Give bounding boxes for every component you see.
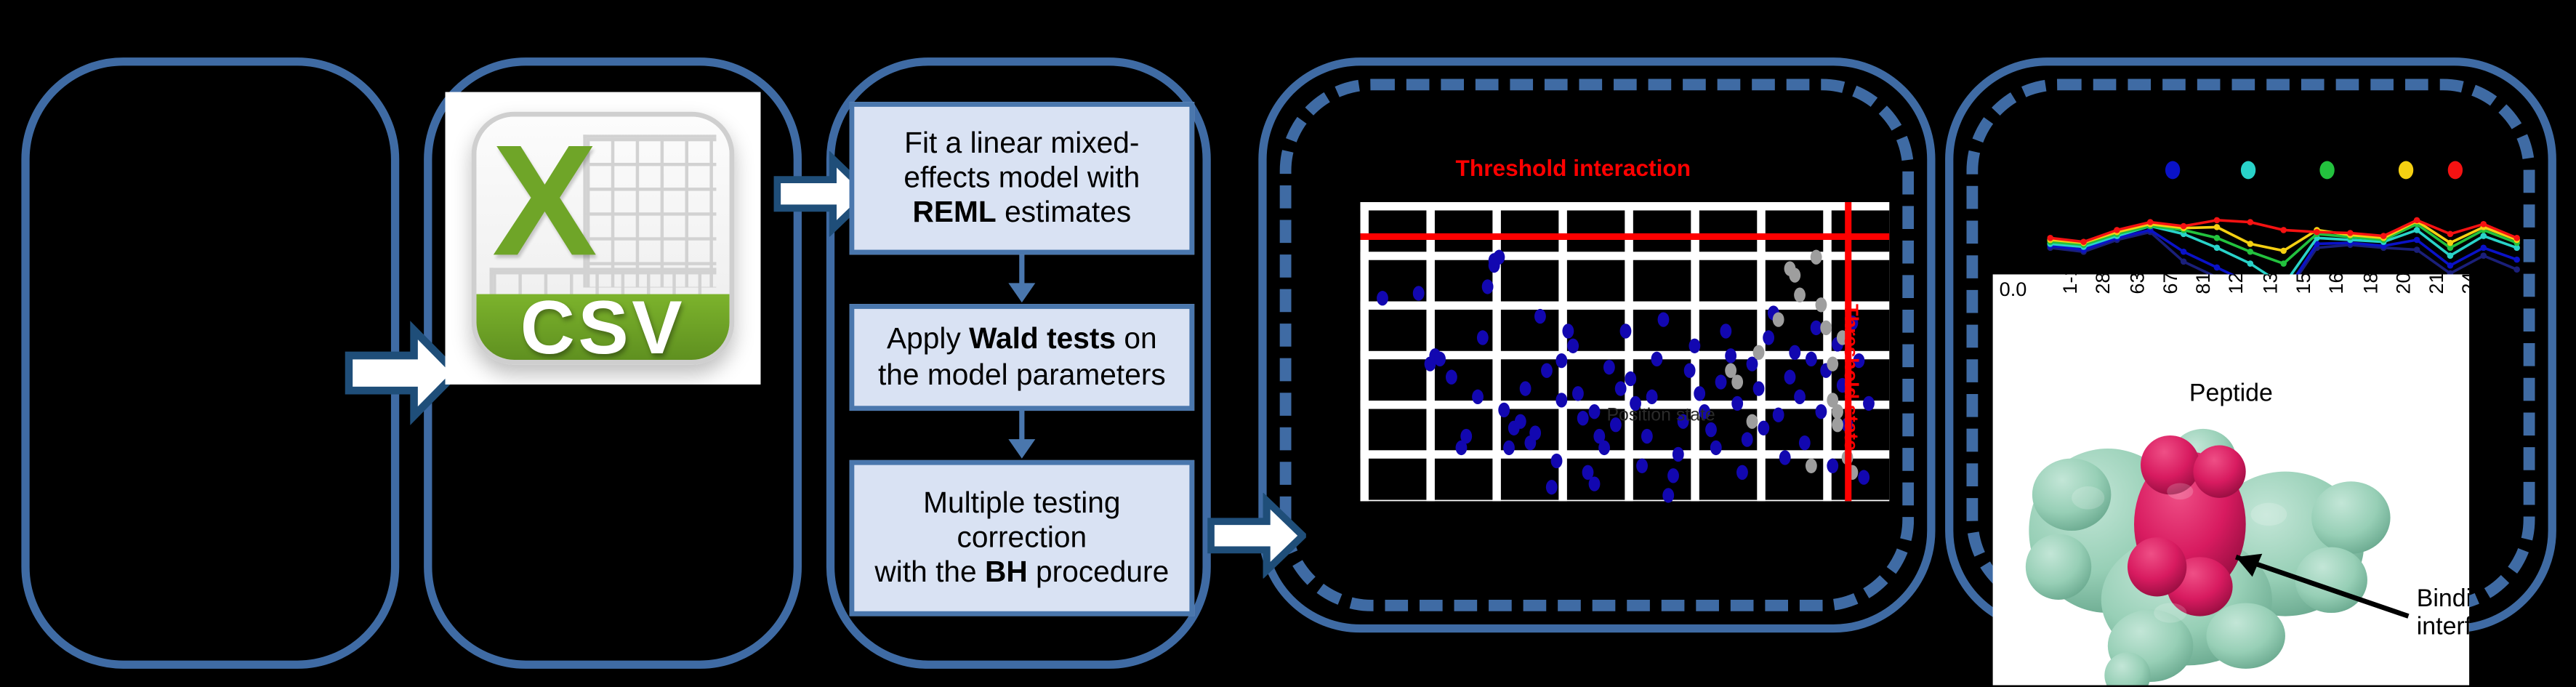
scatter-point [1752, 381, 1764, 395]
legend-dot-green [2319, 161, 2334, 180]
scatter-point [1620, 324, 1632, 339]
scatter-point [1683, 363, 1695, 377]
peptide-series-marker [2447, 262, 2454, 269]
legend-dot-red [2448, 161, 2463, 180]
scatter-point [1667, 467, 1679, 482]
threshold-interaction-line [1360, 233, 1889, 240]
peptide-series-marker [2047, 235, 2053, 241]
threshold-state-label: Threshold state [1840, 304, 1863, 451]
csv-format-label: CSV [520, 283, 685, 365]
proc-line: correction [874, 521, 1169, 555]
csv-badge: X CSV [472, 111, 733, 366]
peptide-series-marker [2147, 219, 2154, 225]
scatter-point [1720, 324, 1732, 339]
scatter-point [1588, 405, 1600, 419]
scatter-point [1482, 279, 1494, 294]
peptide-tick-label: 218-237 [2425, 274, 2448, 294]
peptide-tick-label: 184-199 [2359, 274, 2382, 294]
peptide-series-marker [2214, 217, 2221, 224]
scatter-point [1731, 375, 1742, 390]
peptide-series-marker [2513, 235, 2520, 241]
scatter-point [1646, 390, 1658, 404]
peptide-series-marker [2280, 227, 2287, 233]
peptide-series-marker [2181, 223, 2187, 230]
scatter-point [1811, 249, 1822, 264]
scatter-point [1821, 321, 1832, 336]
peptide-axis-label: Peptide [1993, 379, 2469, 407]
scatter-point [1577, 411, 1589, 425]
scatter-point [1472, 390, 1484, 404]
peptide-series-marker [2414, 217, 2420, 224]
fit-model-step-text: Fit a linear mixed- effects model with R… [903, 126, 1140, 230]
scatter-point [1811, 321, 1822, 336]
peptide-series-marker [2414, 246, 2420, 253]
proc-line: Apply Wald tests on [878, 323, 1166, 358]
scatter-point [1519, 381, 1531, 395]
peptide-tick-label: 241-257 [2458, 274, 2469, 294]
scatter-point [1604, 360, 1616, 374]
peptide-series-marker [2380, 233, 2387, 239]
scatter-point [1477, 330, 1489, 345]
peptide-series-marker [2247, 241, 2254, 247]
scatter-point [1710, 441, 1721, 455]
scatter-point [1826, 459, 1838, 473]
peptide-tick-label: 167-180 [2325, 274, 2348, 294]
peptide-series-marker [2247, 249, 2254, 255]
peptide-series-marker [2214, 235, 2221, 241]
scatter-point [1715, 375, 1727, 390]
scatter-point [1805, 459, 1816, 473]
scatter-point [1789, 268, 1800, 282]
scatter-point [1774, 408, 1785, 422]
peptide-series-marker [2480, 245, 2487, 252]
scatter-point [1551, 453, 1563, 467]
binding-interface-annotation: Binding interface [2417, 587, 2469, 642]
scatter-point [1572, 387, 1584, 401]
peptide-tick-label: 135-144 [2258, 274, 2282, 294]
scatter-point [1816, 297, 1827, 312]
scatter-point [1863, 396, 1875, 411]
pipeline-diagram: X CSV Fit a linear mixed- effects model … [0, 0, 2576, 687]
peptide-axis-ticks: 1-1528-4463-7367-7581-101122-129135-1441… [1993, 291, 2469, 383]
scatter-point [1445, 369, 1457, 384]
peptide-series-marker [2447, 240, 2454, 246]
peptide-series-marker [2280, 260, 2287, 267]
scatter-point [1657, 312, 1668, 326]
peptide-series-marker [2480, 221, 2487, 228]
peptide-series-marker [2347, 230, 2354, 236]
peptide-tick-label: 67-75 [2159, 274, 2182, 294]
scatter-point [1758, 419, 1769, 434]
scatter-point [1752, 345, 1764, 360]
peptide-series-marker [2080, 238, 2087, 245]
scatter-point [1662, 489, 1674, 503]
scatter-point [1377, 292, 1388, 306]
binding-label-line1: Binding [2417, 587, 2469, 614]
scatter-point [1816, 405, 1827, 419]
peptide-series-marker [2314, 229, 2320, 236]
protein-structure-image [2006, 416, 2417, 686]
proc-line: REML estimates [903, 196, 1140, 230]
peptide-series-marker [2480, 233, 2487, 239]
peptide-series-marker [2447, 252, 2454, 259]
peptide-tick-label: 158-166 [2292, 274, 2315, 294]
scatter-point [1567, 339, 1579, 353]
scatter-point [1742, 432, 1753, 446]
csv-file-icon: X CSV [446, 92, 761, 385]
peptide-tick-label: 122-129 [2225, 274, 2248, 294]
scatter-point [1556, 354, 1568, 369]
scatter-point [1736, 465, 1748, 479]
scatter-point [1625, 372, 1637, 387]
scatter-point [1540, 363, 1552, 377]
scatter-point [1598, 441, 1610, 455]
scatter-point [1503, 441, 1515, 455]
scatter-point [1805, 351, 1816, 366]
scatter-point [1795, 288, 1806, 302]
scatter-point [1498, 402, 1510, 417]
peptide-series-marker [2447, 231, 2454, 238]
peptide-tick-label: 63-73 [2125, 274, 2149, 294]
scatter-point [1789, 345, 1800, 360]
stage-input-panel [21, 57, 399, 669]
scatter-point [1588, 477, 1600, 491]
scatter-point [1514, 414, 1526, 428]
proc-line: the model parameters [878, 358, 1166, 393]
scatter-point [1562, 324, 1574, 339]
proc-line: Multiple testing [874, 486, 1169, 521]
scatter-point [1635, 459, 1647, 473]
peptide-tick-label: 28-44 [2092, 274, 2115, 294]
wald-tests-step-box: Apply Wald tests on the model parameters [850, 304, 1195, 411]
peptide-series-marker [2247, 260, 2254, 267]
threshold-scatter-figure: Threshold interaction Threshold state Po… [1314, 148, 1906, 526]
arrow-analysis-to-thresholds [1207, 493, 1306, 579]
peptide-series-marker [2513, 257, 2520, 263]
peptide-series-marker [2280, 248, 2287, 254]
peptide-series-marker [2181, 259, 2187, 265]
peptide-series-marker [2114, 227, 2120, 233]
scatter-plot-area: Threshold state Position state [1360, 202, 1889, 501]
wald-tests-step-text: Apply Wald tests on the model parameters [878, 323, 1166, 393]
multiple-testing-step-box: Multiple testing correction with the BH … [850, 460, 1195, 616]
scatter-point [1461, 429, 1473, 443]
peptide-series-marker [2247, 219, 2254, 225]
peptide-tick-label: 81-101 [2191, 274, 2215, 294]
proc-line: Fit a linear mixed- [903, 126, 1140, 161]
scatter-point [1795, 390, 1806, 404]
legend-dot-blue [2165, 161, 2180, 180]
scatter-point [1651, 351, 1663, 366]
peptide-series-marker [2480, 252, 2487, 259]
peptide-series-marker [2214, 224, 2221, 230]
results-white-card: 0.0 1-1528-4463-7367-7581-101122-129135-… [1993, 274, 2469, 685]
fit-model-step-box: Fit a linear mixed- effects model with R… [850, 102, 1195, 254]
csv-grid-upper [583, 135, 717, 287]
legend-dot-yellow [2399, 161, 2413, 180]
proc-line: effects model with [903, 161, 1140, 196]
scatter-point [1689, 339, 1700, 353]
connector-wald-to-bh [1005, 411, 1038, 460]
scatter-point [1435, 351, 1446, 366]
scatter-point [1694, 387, 1705, 401]
scatter-point [1726, 348, 1737, 363]
excel-x-glyph: X [492, 124, 597, 281]
scatter-point [1779, 450, 1790, 465]
scatter-point [1800, 435, 1811, 449]
peptide-tick-label: 200-214 [2392, 274, 2415, 294]
peptide-series-marker [2214, 245, 2221, 252]
proc-line: with the BH procedure [874, 555, 1169, 590]
csv-format-band: CSV [477, 294, 729, 361]
scatter-point [1535, 309, 1547, 324]
scatter-point [1784, 369, 1795, 384]
legend-dot-cyan [2241, 161, 2255, 180]
scatter-point [1641, 429, 1653, 443]
peptide-series-marker [2513, 266, 2520, 273]
connector-fit-to-wald [1005, 254, 1038, 304]
multiple-testing-step-text: Multiple testing correction with the BH … [874, 486, 1169, 590]
scatter-point [1546, 480, 1558, 494]
peptide-series-marker [2414, 237, 2420, 244]
peptide-series-marker [2214, 265, 2221, 271]
scatter-point [1858, 470, 1869, 485]
scatter-xlabel: Position state [1606, 406, 1715, 425]
binding-label-line2: interface [2417, 614, 2469, 642]
scatter-point [1414, 285, 1425, 300]
scatter-point [1763, 330, 1774, 345]
scatter-point [1673, 446, 1684, 461]
scatter-point [1556, 393, 1568, 407]
arrow-input-to-data [345, 321, 460, 426]
scatter-title: Threshold interaction [1456, 154, 1691, 180]
scatter-point [1747, 414, 1758, 428]
scatter-point [1731, 396, 1742, 411]
peptide-series-marker [2181, 249, 2187, 255]
peptide-tick-label: 1-15 [2058, 274, 2082, 294]
scatter-point [1774, 312, 1785, 326]
scatter-point [1530, 426, 1542, 441]
scatter-point [1614, 381, 1626, 395]
scatter-point-layer [1360, 202, 1889, 501]
scatter-point [1493, 249, 1505, 264]
peptide-series-marker [2414, 227, 2420, 233]
